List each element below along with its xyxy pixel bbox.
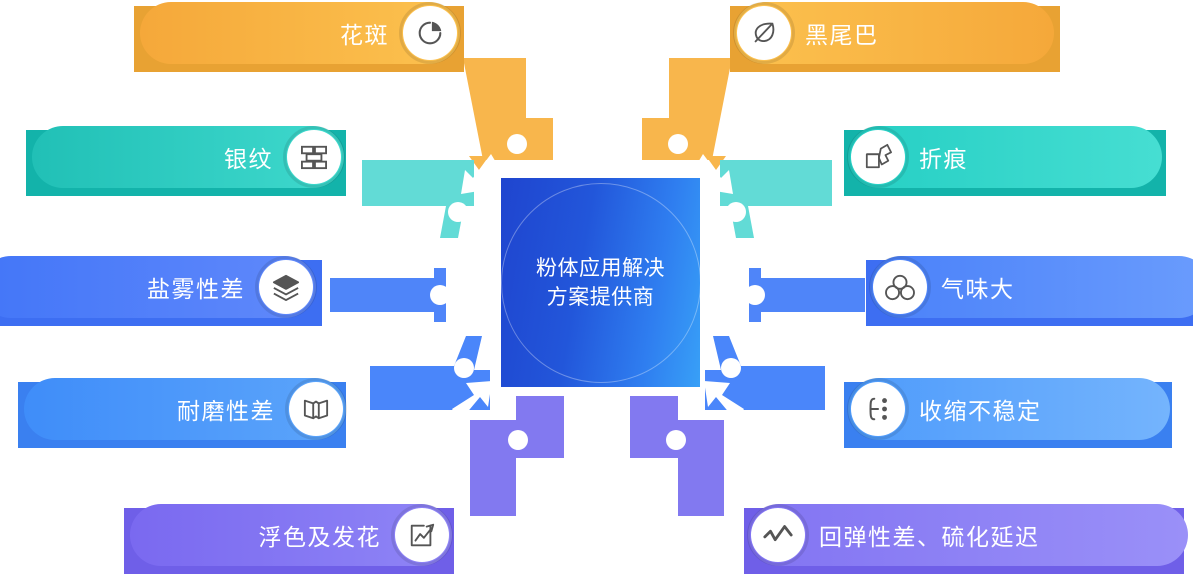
connector-arrow-bottom-left <box>452 375 496 425</box>
brick-wall-icon <box>287 130 341 184</box>
pill-label-yin-wen: 银纹 <box>224 140 273 174</box>
pill-label-yan-wu: 盐雾性差 <box>147 270 245 304</box>
center-label: 粉体应用解决 方案提供商 <box>501 254 700 312</box>
pill-label-nai-mo: 耐磨性差 <box>177 392 275 426</box>
pill-shou-suo[interactable]: 收缩不稳定 <box>848 378 1170 440</box>
pill-hua-ban[interactable]: 花斑 <box>140 2 460 64</box>
layers-icon <box>259 260 313 314</box>
hierarchy-icon <box>851 382 905 436</box>
pill-label-zhe-hen: 折痕 <box>919 140 968 174</box>
puzzle-icon <box>851 130 905 184</box>
connector-arrow-bottom-right <box>700 375 744 425</box>
pill-fu-se[interactable]: 浮色及发花 <box>130 504 452 566</box>
infographic-canvas: 粉体应用解决 方案提供商 花斑 银纹 <box>0 0 1193 577</box>
center-node: 粉体应用解决 方案提供商 <box>501 178 700 387</box>
trend-up-icon <box>395 508 449 562</box>
line-chart-icon <box>751 508 805 562</box>
connector-mid-left <box>330 268 470 322</box>
pill-yin-wen[interactable]: 银纹 <box>32 126 344 188</box>
pill-yan-wu[interactable]: 盐雾性差 <box>0 256 316 318</box>
pill-label-hua-ban: 花斑 <box>340 16 389 50</box>
pill-label-qi-wei-da: 气味大 <box>941 270 1015 304</box>
pill-label-shou-suo: 收缩不稳定 <box>919 392 1042 426</box>
connector-mid-right <box>725 268 865 322</box>
pill-label-fu-se: 浮色及发花 <box>259 518 382 552</box>
pill-hei-wei-ba[interactable]: 黑尾巴 <box>734 2 1054 64</box>
pie-chart-icon <box>403 6 457 60</box>
open-book-icon <box>289 382 343 436</box>
pill-label-hei-wei-ba: 黑尾巴 <box>805 16 879 50</box>
recycle-icon <box>873 260 927 314</box>
pill-nai-mo[interactable]: 耐磨性差 <box>24 378 346 440</box>
pill-label-hui-tan: 回弹性差、硫化延迟 <box>819 518 1040 552</box>
pill-qi-wei-da[interactable]: 气味大 <box>870 256 1193 318</box>
leaf-icon <box>737 6 791 60</box>
connector-arrow-top-left <box>455 150 497 198</box>
connector-arrow-top-right <box>697 150 739 198</box>
pill-hui-tan[interactable]: 回弹性差、硫化延迟 <box>748 504 1188 566</box>
pill-zhe-hen[interactable]: 折痕 <box>848 126 1162 188</box>
